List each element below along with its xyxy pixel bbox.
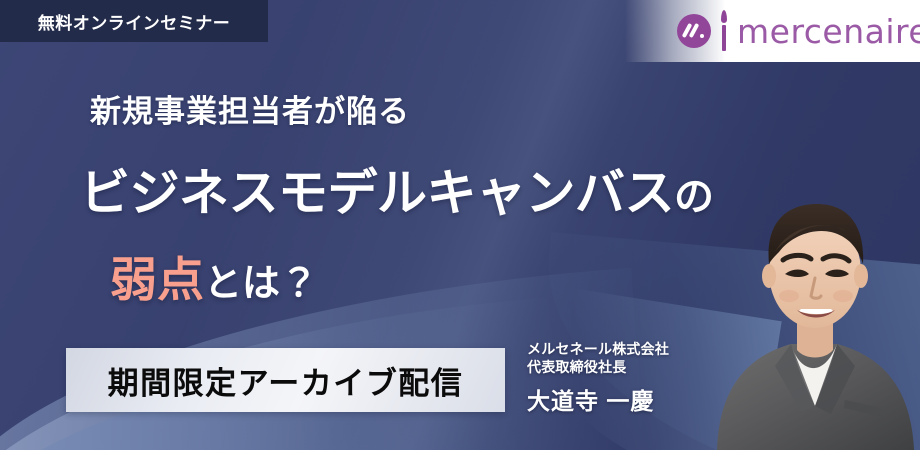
seminar-banner: 無料オンラインセミナー mercenaire 新規事業担当者が陥る ビジネスモデ…: [0, 0, 920, 450]
headline-line-1: 新規事業担当者が陥る: [90, 86, 730, 131]
headline-accent-text: 弱点: [110, 253, 204, 306]
headline-line-3-rest: とは？: [204, 263, 318, 305]
brand-wordmark: mercenaire: [737, 15, 920, 48]
archive-availability-banner: 期間限定アーカイブ配信: [66, 348, 505, 412]
mercenaire-brush-i-icon: [720, 9, 729, 53]
brand-logo-panel: mercenaire: [625, 0, 920, 62]
speaker-company: メルセネール株式会社: [527, 341, 707, 359]
headline-line-2-main: ビジネスモデルキャンバス: [80, 165, 674, 221]
speaker-job-title: 代表取締役社長: [527, 359, 707, 377]
brand-logo: mercenaire: [677, 9, 920, 53]
headline-line-2: ビジネスモデルキャンバスの: [80, 153, 730, 225]
speaker-name: 大道寺 一慶: [527, 382, 707, 416]
free-seminar-badge: 無料オンラインセミナー: [0, 0, 268, 42]
headline-block: 新規事業担当者が陥る ビジネスモデルキャンバスの 弱点とは？: [0, 86, 730, 310]
mercenaire-circle-mark-icon: [677, 14, 711, 48]
speaker-credit: メルセネール株式会社 代表取締役社長 大道寺 一慶: [527, 341, 707, 416]
speaker-portrait: [705, 160, 920, 450]
headline-line-3: 弱点とは？: [110, 241, 730, 310]
free-seminar-badge-label: 無料オンラインセミナー: [38, 9, 231, 34]
archive-availability-label: 期間限定アーカイブ配信: [108, 358, 464, 403]
